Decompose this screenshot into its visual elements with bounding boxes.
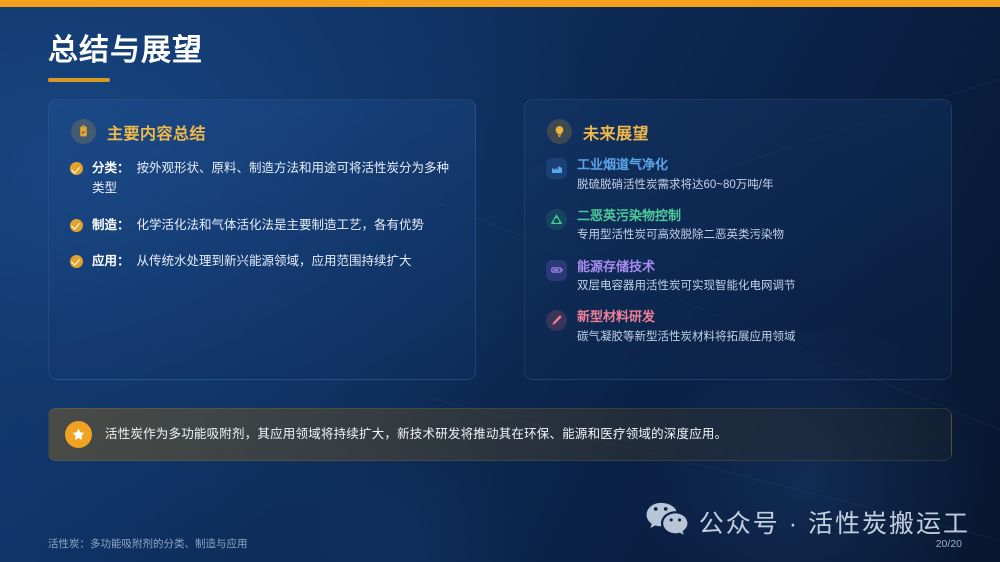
summary-card-title: 主要内容总结 bbox=[107, 120, 206, 144]
list-item: 新型材料研发 碳气凝胶等新型活性炭材料将拓展应用领域 bbox=[546, 308, 931, 346]
list-item-body: 从传统水处理到新兴能源领域，应用范围持续扩大 bbox=[137, 254, 412, 268]
list-item-text: 工业烟道气净化 脱硫脱硝活性炭需求将达60~80万吨/年 bbox=[577, 156, 774, 194]
list-item-text: 新型材料研发 碳气凝胶等新型活性炭材料将拓展应用领域 bbox=[577, 308, 796, 346]
outlook-card: 未来展望 工业烟道气净化 脱硫脱硝活性炭需求将达60~80万吨/年 bbox=[524, 99, 952, 380]
recycle-icon bbox=[546, 209, 567, 230]
lightbulb-icon bbox=[547, 119, 572, 144]
check-circle-icon bbox=[70, 219, 83, 232]
footer-note: 活性炭：多功能吸附剂的分类、制造与应用 bbox=[48, 536, 248, 551]
watermark: 公众号 · 活性炭搬运工 bbox=[645, 500, 970, 543]
list-item: 制造：化学活化法和气体活化法是主要制造工艺，各有优势 bbox=[70, 215, 455, 235]
check-circle-icon bbox=[70, 162, 83, 175]
list-item-label: 分类： bbox=[92, 161, 130, 175]
title-block: 总结与展望 bbox=[48, 33, 203, 82]
list-item-label: 制造： bbox=[92, 218, 130, 232]
star-icon bbox=[65, 421, 92, 448]
summary-list: 分类：按外观形状、原料、制造方法和用途可将活性炭分为多种类型 制造：化学活化法和… bbox=[49, 144, 475, 271]
top-accent-bar bbox=[0, 0, 1000, 7]
page-title: 总结与展望 bbox=[48, 33, 203, 69]
check-circle-icon bbox=[70, 255, 83, 268]
list-item-desc: 双层电容器用活性炭可实现智能化电网调节 bbox=[577, 278, 796, 295]
list-item-body: 化学活化法和气体活化法是主要制造工艺，各有优势 bbox=[137, 218, 425, 232]
title-underline bbox=[48, 78, 110, 82]
list-item-desc: 碳气凝胶等新型活性炭材料将拓展应用领域 bbox=[577, 329, 796, 346]
summary-card: 主要内容总结 分类：按外观形状、原料、制造方法和用途可将活性炭分为多种类型 制造… bbox=[48, 99, 476, 380]
battery-icon bbox=[546, 260, 567, 281]
list-item-text: 制造：化学活化法和气体活化法是主要制造工艺，各有优势 bbox=[92, 215, 424, 235]
list-item-title: 工业烟道气净化 bbox=[577, 156, 774, 174]
list-item: 分类：按外观形状、原料、制造方法和用途可将活性炭分为多种类型 bbox=[70, 158, 455, 199]
clipboard-icon bbox=[71, 119, 96, 144]
outlook-list: 工业烟道气净化 脱硫脱硝活性炭需求将达60~80万吨/年 二恶英污染物控制 专用… bbox=[525, 144, 951, 346]
list-item-text: 应用：从传统水处理到新兴能源领域，应用范围持续扩大 bbox=[92, 251, 412, 271]
list-item-text: 分类：按外观形状、原料、制造方法和用途可将活性炭分为多种类型 bbox=[92, 158, 455, 199]
list-item-title: 二恶英污染物控制 bbox=[577, 207, 784, 225]
watermark-text: 公众号 · 活性炭搬运工 bbox=[699, 504, 970, 540]
slide-canvas: 总结与展望 主要内容总结 分类：按外观形状、原料、制造方法和用途可将活性炭分为多… bbox=[0, 0, 1000, 562]
list-item: 二恶英污染物控制 专用型活性炭可高效脱除二恶英类污染物 bbox=[546, 207, 931, 245]
list-item: 能源存储技术 双层电容器用活性炭可实现智能化电网调节 bbox=[546, 258, 931, 296]
list-item-desc: 专用型活性炭可高效脱除二恶英类污染物 bbox=[577, 227, 784, 244]
list-item-title: 新型材料研发 bbox=[577, 308, 796, 326]
summary-card-header: 主要内容总结 bbox=[49, 100, 475, 144]
list-item: 工业烟道气净化 脱硫脱硝活性炭需求将达60~80万吨/年 bbox=[546, 156, 931, 194]
factory-icon bbox=[546, 158, 567, 179]
list-item-label: 应用： bbox=[92, 254, 130, 268]
conclusion-text: 活性炭作为多功能吸附剂，其应用领域将持续扩大，新技术研发将推动其在环保、能源和医… bbox=[105, 425, 727, 444]
conclusion-banner: 活性炭作为多功能吸附剂，其应用领域将持续扩大，新技术研发将推动其在环保、能源和医… bbox=[48, 408, 952, 461]
list-item-title: 能源存储技术 bbox=[577, 258, 796, 276]
list-item-desc: 脱硫脱硝活性炭需求将达60~80万吨/年 bbox=[577, 177, 774, 194]
list-item-text: 二恶英污染物控制 专用型活性炭可高效脱除二恶英类污染物 bbox=[577, 207, 784, 245]
outlook-card-header: 未来展望 bbox=[525, 100, 951, 144]
list-item-text: 能源存储技术 双层电容器用活性炭可实现智能化电网调节 bbox=[577, 258, 796, 296]
test-tube-icon bbox=[546, 310, 567, 331]
outlook-card-title: 未来展望 bbox=[583, 120, 649, 144]
list-item: 应用：从传统水处理到新兴能源领域，应用范围持续扩大 bbox=[70, 251, 455, 271]
wechat-icon bbox=[645, 500, 689, 543]
list-item-body: 按外观形状、原料、制造方法和用途可将活性炭分为多种类型 bbox=[92, 161, 449, 195]
